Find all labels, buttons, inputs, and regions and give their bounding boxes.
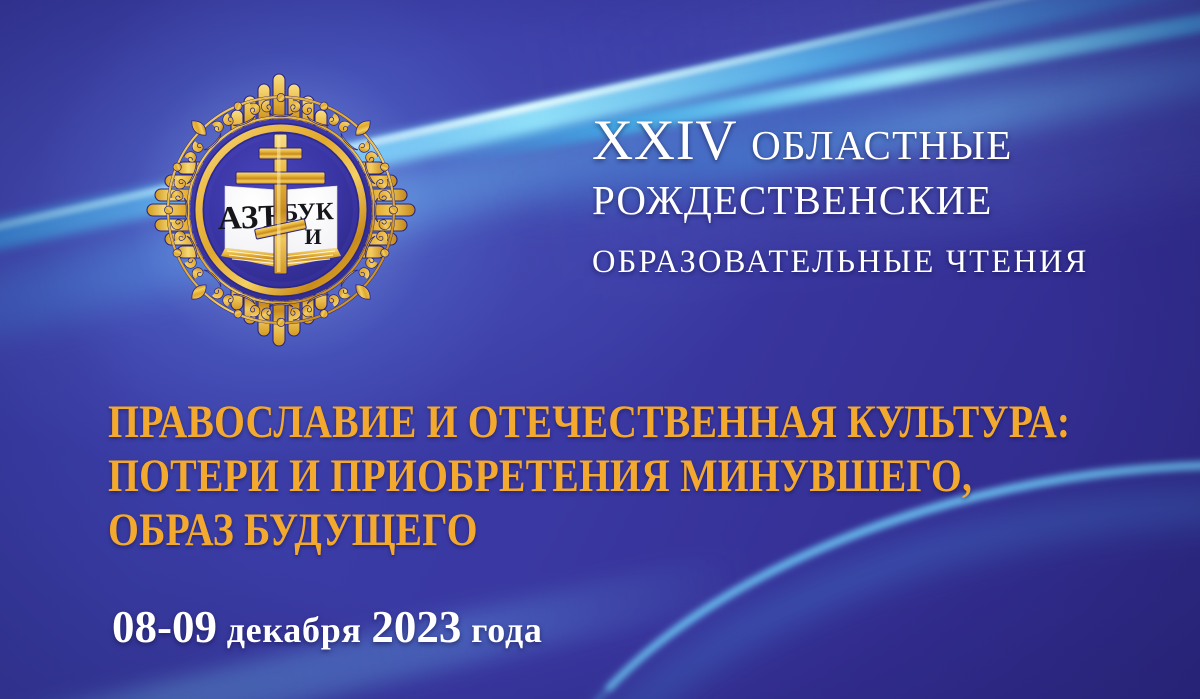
date-year: 2023 — [371, 602, 461, 652]
title-line-3: ОБРАЗ БУДУЩЕГО — [108, 504, 997, 558]
header-line-2: РОЖДЕСТВЕНСКИЕ — [592, 180, 992, 221]
book-right-page-text-bottom: И — [304, 224, 321, 249]
header-roman-numeral: XXIV — [592, 109, 736, 172]
header-regional-word: ОБЛАСТНЫЕ — [751, 122, 1012, 168]
title-line-2: ПОТЕРИ И ПРИОБРЕТЕНИЯ МИНУВШЕГО, — [108, 450, 997, 504]
event-date: 08-09 декабря 2023 года — [112, 601, 543, 653]
date-month: декабря — [227, 610, 362, 650]
header-line-1: XXIV ОБЛАСТНЫЕ — [592, 112, 1013, 169]
header-line-3: ОБРАЗОВАТЕЛЬНЫЕ ЧТЕНИЯ — [592, 246, 1089, 279]
title-line-1: ПРАВОСЛАВИЕ И ОТЕЧЕСТВЕННАЯ КУЛЬТУРА: — [108, 396, 997, 450]
emblem: АЗЪ БУК И — [143, 58, 419, 362]
poster-canvas: АЗЪ БУК И XXIV ОБЛАСТНЫЕ РОЖДЕСТВЕНСКИЕ … — [0, 0, 1200, 699]
date-days: 08-09 — [112, 602, 217, 652]
poster-title: ПРАВОСЛАВИЕ И ОТЕЧЕСТВЕННАЯ КУЛЬТУРА: ПО… — [108, 396, 1148, 558]
date-suffix: года — [471, 610, 543, 650]
